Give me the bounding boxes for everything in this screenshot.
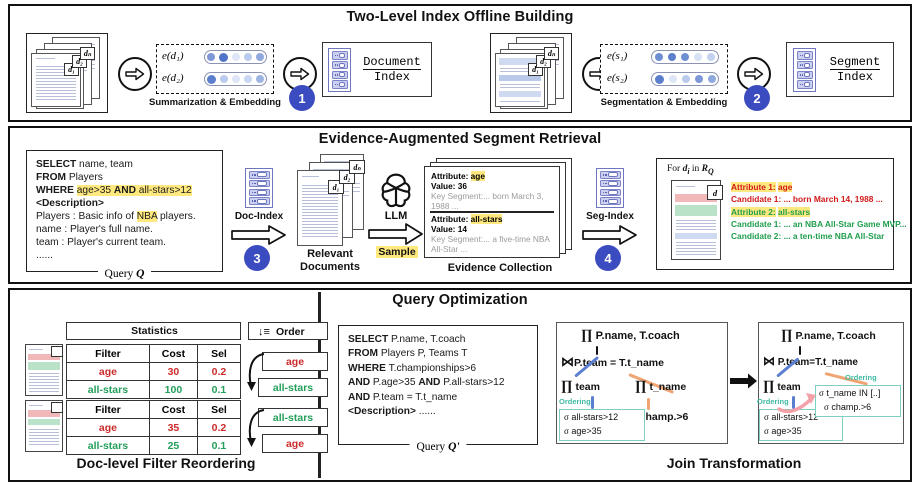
pi-symbol: ∏ — [561, 379, 573, 394]
step-badge-4: 4 — [595, 245, 621, 271]
sql-line: WHERE age>35 AND all-stars>12 — [36, 184, 217, 197]
plan-tree-transformed: ∏ P.name, T.coach ⋈ P.team=T.t_name Orde… — [758, 322, 904, 444]
block-arrow-right-icon — [368, 222, 424, 246]
sql-line: <Description> — [36, 197, 217, 210]
candidate-attr-label: Attribute 2: — [731, 207, 776, 217]
transform-arrow-icon — [730, 373, 758, 389]
ordering-row: σ age>35 — [564, 426, 602, 436]
plan-join-node: ⋈ P.team=T.t_name — [763, 354, 858, 368]
panel-segment-retrieval-title: Evidence-Augmented Segment Retrieval — [8, 131, 912, 147]
ordering-row-label: t_name IN [..] — [826, 388, 880, 398]
embedding-fn-label: e(s₂) — [607, 72, 627, 84]
relevant-documents-stack: d₁ d₂ dₙ — [296, 154, 364, 246]
seg-index-icon — [596, 168, 624, 208]
candidate-header-pre: For — [667, 164, 680, 174]
embedding-vector — [204, 72, 267, 86]
cell-cost: 30 — [149, 363, 197, 381]
sql-line: SELECT P.name, T.coach — [348, 333, 532, 347]
evidence-attr-label: Attribute: — [431, 214, 468, 224]
statistics-header: Statistics — [66, 322, 241, 340]
sql-line: SELECT name, team — [36, 158, 217, 171]
embedding-fn-label: e(s₁) — [607, 50, 627, 62]
candidate-rows: Attribute 1: age Candidate 1: ... born M… — [731, 181, 891, 242]
database-icon — [328, 48, 351, 92]
plan-left-proj-label: team — [575, 381, 600, 393]
table-row: all-stars 100 0.1 — [67, 381, 241, 399]
doc-index-icon — [245, 168, 273, 208]
evidence-value: Value: 36 — [431, 181, 555, 191]
evidence-collection-stack: Attribute: age Value: 36 Key Segment:...… — [424, 158, 574, 260]
join-transformation-caption: Join Transformation — [560, 455, 908, 471]
sigma-symbol: σ — [824, 402, 829, 412]
query-caption-text: Query — [105, 268, 134, 280]
ordering-row-label: age>35 — [571, 426, 601, 436]
tree-edge-vert — [647, 398, 650, 410]
query-q-prime-caption: Query Q' — [409, 441, 466, 453]
cell-cost: 25 — [149, 437, 197, 455]
ordering-label-right: Ordering — [845, 373, 877, 382]
cell-sel: 0.1 — [197, 437, 240, 455]
evidence-attr-value: all-stars — [471, 214, 503, 224]
query-caption-symbol: Q' — [448, 441, 460, 453]
plan-join-node: ⋈P.team = T.t_name — [561, 354, 664, 370]
candidate-attr-label: Attribute 1: — [731, 182, 776, 192]
join-symbol: ⋈ — [763, 354, 775, 368]
block-arrow-right-icon — [582, 224, 638, 246]
segment-index-label: Segment Index — [819, 55, 891, 85]
document-index-box: Document Index — [322, 42, 432, 97]
ordering-box: σ all-stars>12 σ age>35 — [559, 409, 645, 441]
sql-line: AND P.age>35 AND P.all-stars>12 — [348, 376, 532, 390]
sigma-symbol: σ — [564, 426, 569, 436]
panel-offline-building-title: Two-Level Index Offline Building — [8, 9, 912, 25]
table-row: all-stars 25 0.1 — [67, 437, 241, 455]
sort-icon: ↓≡ — [258, 326, 270, 338]
ordering-box-right: σ t_name IN [..] σ champ.>6 — [815, 385, 901, 417]
cell-filter: age — [67, 419, 150, 437]
col-sel: Sel — [197, 345, 240, 363]
summarization-embedding-caption: Summarization & Embedding — [140, 97, 290, 108]
candidate-header-in: in — [692, 164, 699, 174]
evidence-divider — [430, 211, 554, 213]
sql-line: ...... — [36, 249, 217, 262]
index-line-1: Segment — [830, 55, 880, 70]
pi-symbol: ∏ — [635, 379, 647, 394]
evidence-attr-value: age — [471, 171, 485, 181]
candidate-text: ... an NBA All-Star Game MVP... — [784, 219, 907, 229]
figure-root: Two-Level Index Offline Building d₁ d₂ d… — [0, 0, 920, 488]
arrow-circle-right-icon — [118, 57, 152, 91]
document-index-label: Document Index — [354, 55, 430, 85]
plan-tree-original: ∏ P.name, T.coach ⋈P.team = T.t_name ∏ t… — [556, 322, 728, 444]
table-row: age 30 0.2 — [67, 363, 241, 381]
query-q-code: SELECT name, team FROM Players WHERE age… — [36, 158, 217, 262]
candidate-header: For di in RQ — [667, 164, 714, 176]
order-item: age — [262, 434, 328, 453]
plan-right-projection: ∏ t_name — [635, 379, 686, 395]
candidate-doc-tag: d — [707, 185, 723, 200]
stats-doc-tag — [51, 402, 63, 413]
doc-tag: dₙ — [349, 160, 365, 174]
candidate-text: ... born March 14, 1988 ... — [784, 194, 883, 204]
query-q-box: SELECT name, team FROM Players WHERE age… — [26, 150, 223, 272]
plan-root-label: P.name, T.coach — [596, 330, 680, 342]
statistics-title: Statistics — [67, 325, 242, 337]
query-q-prime-box: SELECT P.name, T.coach FROM Players P, T… — [338, 325, 538, 445]
plan-root-projection: ∏ P.name, T.coach — [581, 328, 680, 344]
step-badge-2: 2 — [744, 85, 770, 111]
candidate-label: Candidate 1: — [731, 194, 781, 204]
ordering-row: σ t_name IN [..] — [819, 388, 880, 398]
sql-line: WHERE T.championships>6 — [348, 362, 532, 376]
cell-sel: 0.2 — [197, 419, 240, 437]
ordering-row-label: all-stars>12 — [571, 412, 618, 422]
plan-right-proj-label: t_name — [649, 381, 686, 393]
ordering-row-label: champ.>6 — [831, 402, 871, 412]
cell-sel: 0.2 — [197, 363, 240, 381]
doc-tag: dₙ — [544, 47, 559, 60]
embedding-vector — [204, 50, 267, 64]
block-arrow-right-icon — [231, 224, 287, 246]
stats-doc-tag — [51, 346, 63, 357]
query-caption-text: Query — [416, 441, 445, 453]
order-curve-arrow-icon — [244, 406, 270, 456]
candidate-attr-text: all-stars — [778, 207, 810, 217]
embedding-fn-label: e(d₂) — [162, 72, 184, 84]
evidence-entry: Attribute: all-stars Value: 14 Key Segme… — [431, 214, 555, 254]
evidence-collection-caption: Evidence Collection — [420, 262, 580, 274]
document-stack-1: d₁ d₂ dₙ — [26, 33, 108, 113]
order-title: Order — [276, 326, 305, 338]
sql-line: <Description> ...... — [348, 405, 532, 419]
index-line-2: Index — [374, 70, 410, 84]
evidence-card-front: Attribute: age Value: 36 Key Segment:...… — [424, 166, 560, 258]
relevant-documents-label: RelevantDocuments — [288, 248, 372, 273]
llm-label: LLM — [370, 210, 422, 222]
col-cost: Cost — [149, 401, 197, 419]
sigma-symbol: σ — [764, 412, 769, 422]
query-q-prime-code: SELECT P.name, T.coach FROM Players P, T… — [348, 333, 532, 420]
cell-filter: all-stars — [67, 381, 150, 399]
order-curve-arrow-icon — [244, 350, 270, 400]
plan-right-sigma-label: champ.>6 — [640, 411, 689, 423]
plan-left-projection: ∏ team — [561, 379, 600, 395]
sigma-symbol: σ — [564, 412, 569, 422]
sql-line: FROM Players P, Teams T — [348, 347, 532, 361]
segment-index-box: Segment Index — [786, 42, 894, 97]
step-badge-3: 3 — [244, 245, 270, 271]
order-header: ↓≡ Order — [248, 322, 328, 340]
evidence-value: Value: 14 — [431, 224, 555, 234]
pink-flow-arrow-icon — [777, 389, 821, 415]
ordering-row: σ age>35 — [764, 426, 802, 436]
query-caption-symbol: Q — [136, 268, 144, 280]
pi-symbol: ∏ — [581, 328, 593, 343]
candidate-label: Candidate 2: — [731, 231, 781, 241]
seg-index-label: Seg-Index — [580, 211, 640, 222]
doc-tag: dₙ — [80, 47, 95, 60]
embedding-vector — [651, 50, 719, 64]
pi-symbol: ∏ — [763, 379, 775, 394]
ordering-label: Ordering — [559, 397, 591, 406]
embedding-group-documents: e(d₁) e(d₂) — [156, 44, 274, 94]
embedding-fn-label: e(d₁) — [162, 50, 184, 62]
query-q-caption: Query Q — [98, 268, 152, 280]
table-header-row: Filter Cost Sel — [67, 345, 241, 363]
cell-filter: age — [67, 363, 150, 381]
plan-root-label: P.name, T.coach — [795, 330, 875, 342]
sql-line: AND P.team = T.t_name — [348, 391, 532, 405]
index-line-2: Index — [837, 70, 873, 84]
llm-logo-icon — [376, 168, 416, 213]
sigma-symbol: σ — [764, 426, 769, 436]
ordering-row-label: age>35 — [771, 426, 801, 436]
evidence-segment: Key Segment:... a five-time NBA All-Star… — [431, 234, 555, 254]
document-stack-2: d₁ d₂ dₙ — [490, 33, 572, 113]
segmentation-embedding-caption: Segmentation & Embedding — [588, 97, 740, 108]
cell-filter: all-stars — [67, 437, 150, 455]
database-icon — [793, 48, 816, 92]
statistics-table-1: Filter Cost Sel age 30 0.2 all-stars 100… — [66, 344, 241, 399]
order-item: age — [262, 352, 328, 371]
col-filter: Filter — [67, 345, 150, 363]
ordering-row: σ all-stars>12 — [564, 412, 618, 422]
evidence-attr-label: Attribute: — [431, 171, 468, 181]
step-badge-1: 1 — [289, 85, 315, 111]
cell-cost: 100 — [149, 381, 197, 399]
sql-line: Players : Basic info of NBA players. — [36, 210, 217, 223]
table-row: age 35 0.2 — [67, 419, 241, 437]
panel-query-optimization-title: Query Optimization — [8, 292, 912, 308]
candidate-doc-tag-text: d — [713, 188, 717, 198]
evidence-segment: Key Segment:... born March 3, 1988 ... — [431, 191, 555, 211]
embedding-group-segments: e(s₁) e(s₂) — [600, 44, 728, 94]
doc-level-filter-reordering-caption: Doc-level Filter Reordering — [20, 455, 312, 471]
table-header-row: Filter Cost Sel — [67, 401, 241, 419]
col-filter: Filter — [67, 401, 150, 419]
join-symbol: ⋈ — [561, 354, 574, 369]
plan-root-projection: ∏ P.name, T.coach — [781, 328, 876, 344]
candidate-header-rsub: Q — [708, 167, 714, 176]
sql-line: FROM Players — [36, 171, 217, 184]
sql-line: team : Player's current team. — [36, 236, 217, 249]
doc-index-label: Doc-Index — [229, 211, 289, 222]
candidate-results-box: For di in RQ d Attribute 1: age Candidat… — [656, 158, 894, 270]
col-cost: Cost — [149, 345, 197, 363]
candidate-header-sub: i — [687, 167, 689, 176]
candidate-label: Candidate 1: — [731, 219, 781, 229]
candidate-attr-text: age — [778, 182, 792, 192]
evidence-entry: Attribute: age Value: 36 Key Segment:...… — [431, 171, 555, 211]
sql-line: name : Player's full name. — [36, 223, 217, 236]
index-line-1: Document — [363, 55, 421, 70]
sample-label: Sample — [376, 246, 418, 258]
cell-cost: 35 — [149, 419, 197, 437]
statistics-table-2: Filter Cost Sel age 35 0.2 all-stars 25 … — [66, 400, 241, 455]
col-sel: Sel — [197, 401, 240, 419]
cell-sel: 0.1 — [197, 381, 240, 399]
candidate-text: ... a ten-time NBA All-Star — [784, 231, 885, 241]
pi-symbol: ∏ — [781, 328, 793, 343]
tree-edge-vert — [591, 396, 594, 409]
ordering-row: σ champ.>6 — [824, 402, 871, 412]
embedding-vector — [651, 72, 719, 86]
